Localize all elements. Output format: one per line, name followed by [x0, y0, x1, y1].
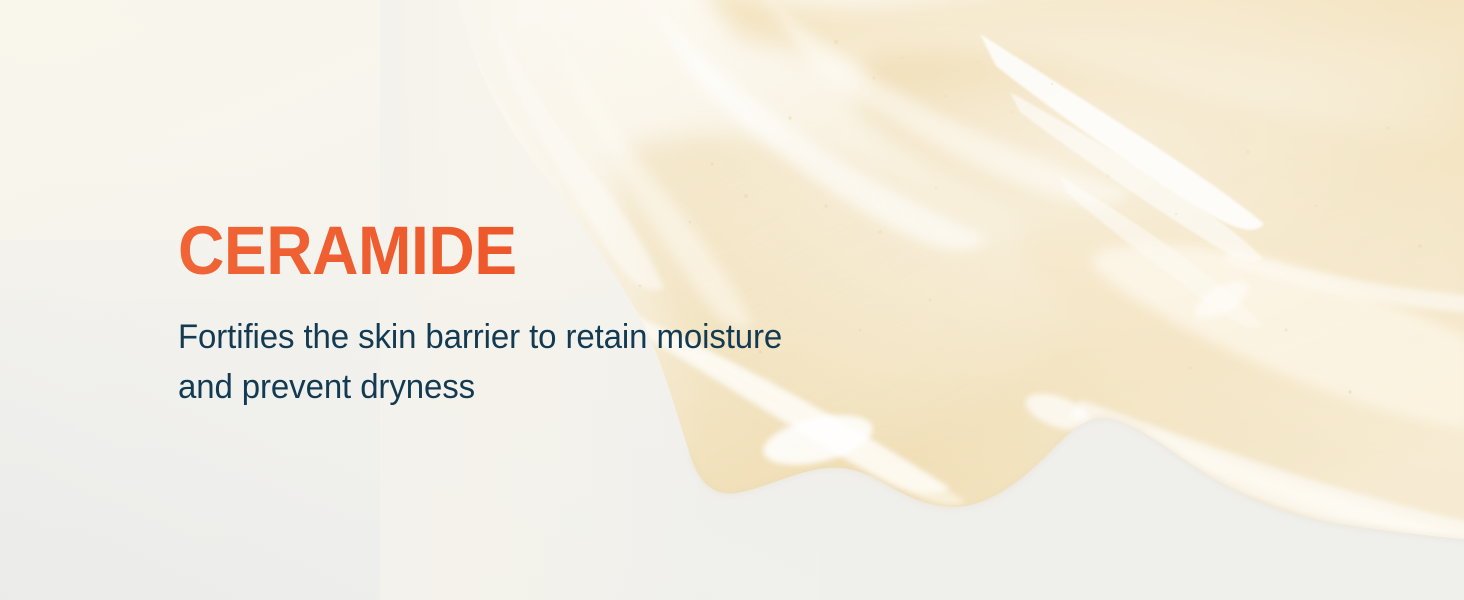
- copy-block: CERAMIDE Fortifies the skin barrier to r…: [178, 214, 938, 412]
- subtitle-line-2: and prevent dryness: [178, 362, 915, 412]
- subtitle: Fortifies the skin barrier to retain moi…: [178, 288, 915, 412]
- ceramide-ingredient-banner: CERAMIDE Fortifies the skin barrier to r…: [0, 0, 1464, 600]
- subtitle-line-1: Fortifies the skin barrier to retain moi…: [178, 312, 915, 362]
- page-title: CERAMIDE: [178, 214, 885, 288]
